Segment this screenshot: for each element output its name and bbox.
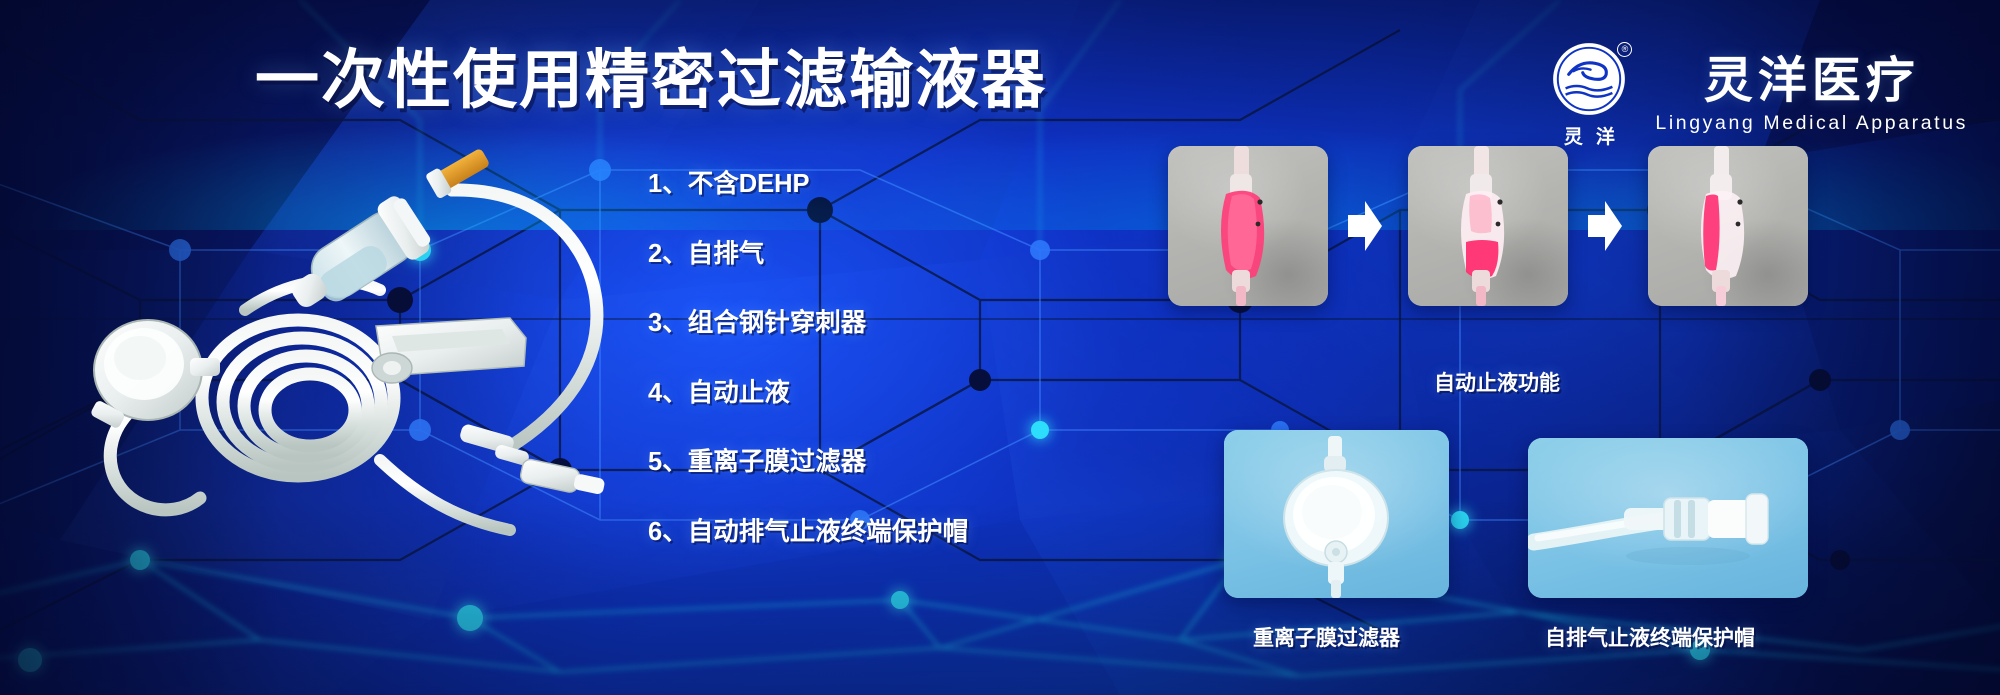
page-title: 一次性使用精密过滤输液器 <box>255 48 1047 112</box>
list-item: 6、自动排气止液终端保护帽 <box>648 520 978 546</box>
company-name-en: Lingyang Medical Apparatus <box>1655 112 1968 135</box>
feature-label: 组合钢针穿刺器 <box>688 309 867 337</box>
feature-label: 自排气 <box>688 240 765 268</box>
lingyang-circular-emblem-icon: ® <box>1550 40 1628 118</box>
feature-label: 自动止液 <box>688 379 790 407</box>
auto-stop-frame-2 <box>1408 146 1568 306</box>
list-item: 2、自排气 <box>648 242 978 268</box>
logo-badge-subtext: 灵洋 <box>1541 122 1637 149</box>
list-item: 4、自动止液 <box>648 381 978 407</box>
self-venting-stop-terminal-cap-caption: 自排气止液终端保护帽 <box>1545 622 1755 652</box>
terminal-cap-part <box>519 458 606 499</box>
list-item: 5、重离子膜过滤器 <box>648 450 978 476</box>
list-item: 3、组合钢针穿刺器 <box>648 311 978 337</box>
hero-product-image <box>40 130 660 550</box>
heavy-ion-membrane-filter-caption: 重离子膜过滤器 <box>1253 622 1400 652</box>
drip-chamber-part <box>277 191 435 326</box>
self-venting-stop-terminal-cap-image <box>1528 438 1808 598</box>
list-item: 1、不含DEHP <box>648 172 978 198</box>
roller-clamp-part <box>372 318 526 383</box>
registered-trademark-icon: ® <box>1617 42 1632 57</box>
feature-list: 1、不含DEHP 2、自排气 3、组合钢针穿刺器 4、自动止液 5、重离子膜过滤… <box>648 172 978 545</box>
feature-label: 不含DEHP <box>688 170 810 198</box>
sequence-arrow-icon-1 <box>1348 199 1382 253</box>
heavy-ion-membrane-filter-image <box>1224 430 1449 598</box>
auto-stop-frame-1 <box>1168 146 1328 306</box>
logo-wordmark: 灵洋医疗 Lingyang Medical Apparatus <box>1655 54 1968 136</box>
feature-label: 自动排气止液终端保护帽 <box>688 518 969 546</box>
product-banner: 一次性使用精密过滤输液器 ® 灵洋 灵洋医疗 Lingyang Medical … <box>0 0 2000 695</box>
feature-label: 重离子膜过滤器 <box>688 448 867 476</box>
sequence-arrow-icon-2 <box>1588 199 1622 253</box>
auto-stop-frame-3 <box>1648 146 1808 306</box>
company-name-cn: 灵洋医疗 <box>1704 56 1920 107</box>
demo-sequence-caption: 自动止液功能 <box>1434 367 1560 397</box>
logo-mark: ® 灵洋 <box>1541 40 1637 149</box>
brand-logo: ® 灵洋 灵洋医疗 Lingyang Medical Apparatus <box>1541 40 1968 149</box>
